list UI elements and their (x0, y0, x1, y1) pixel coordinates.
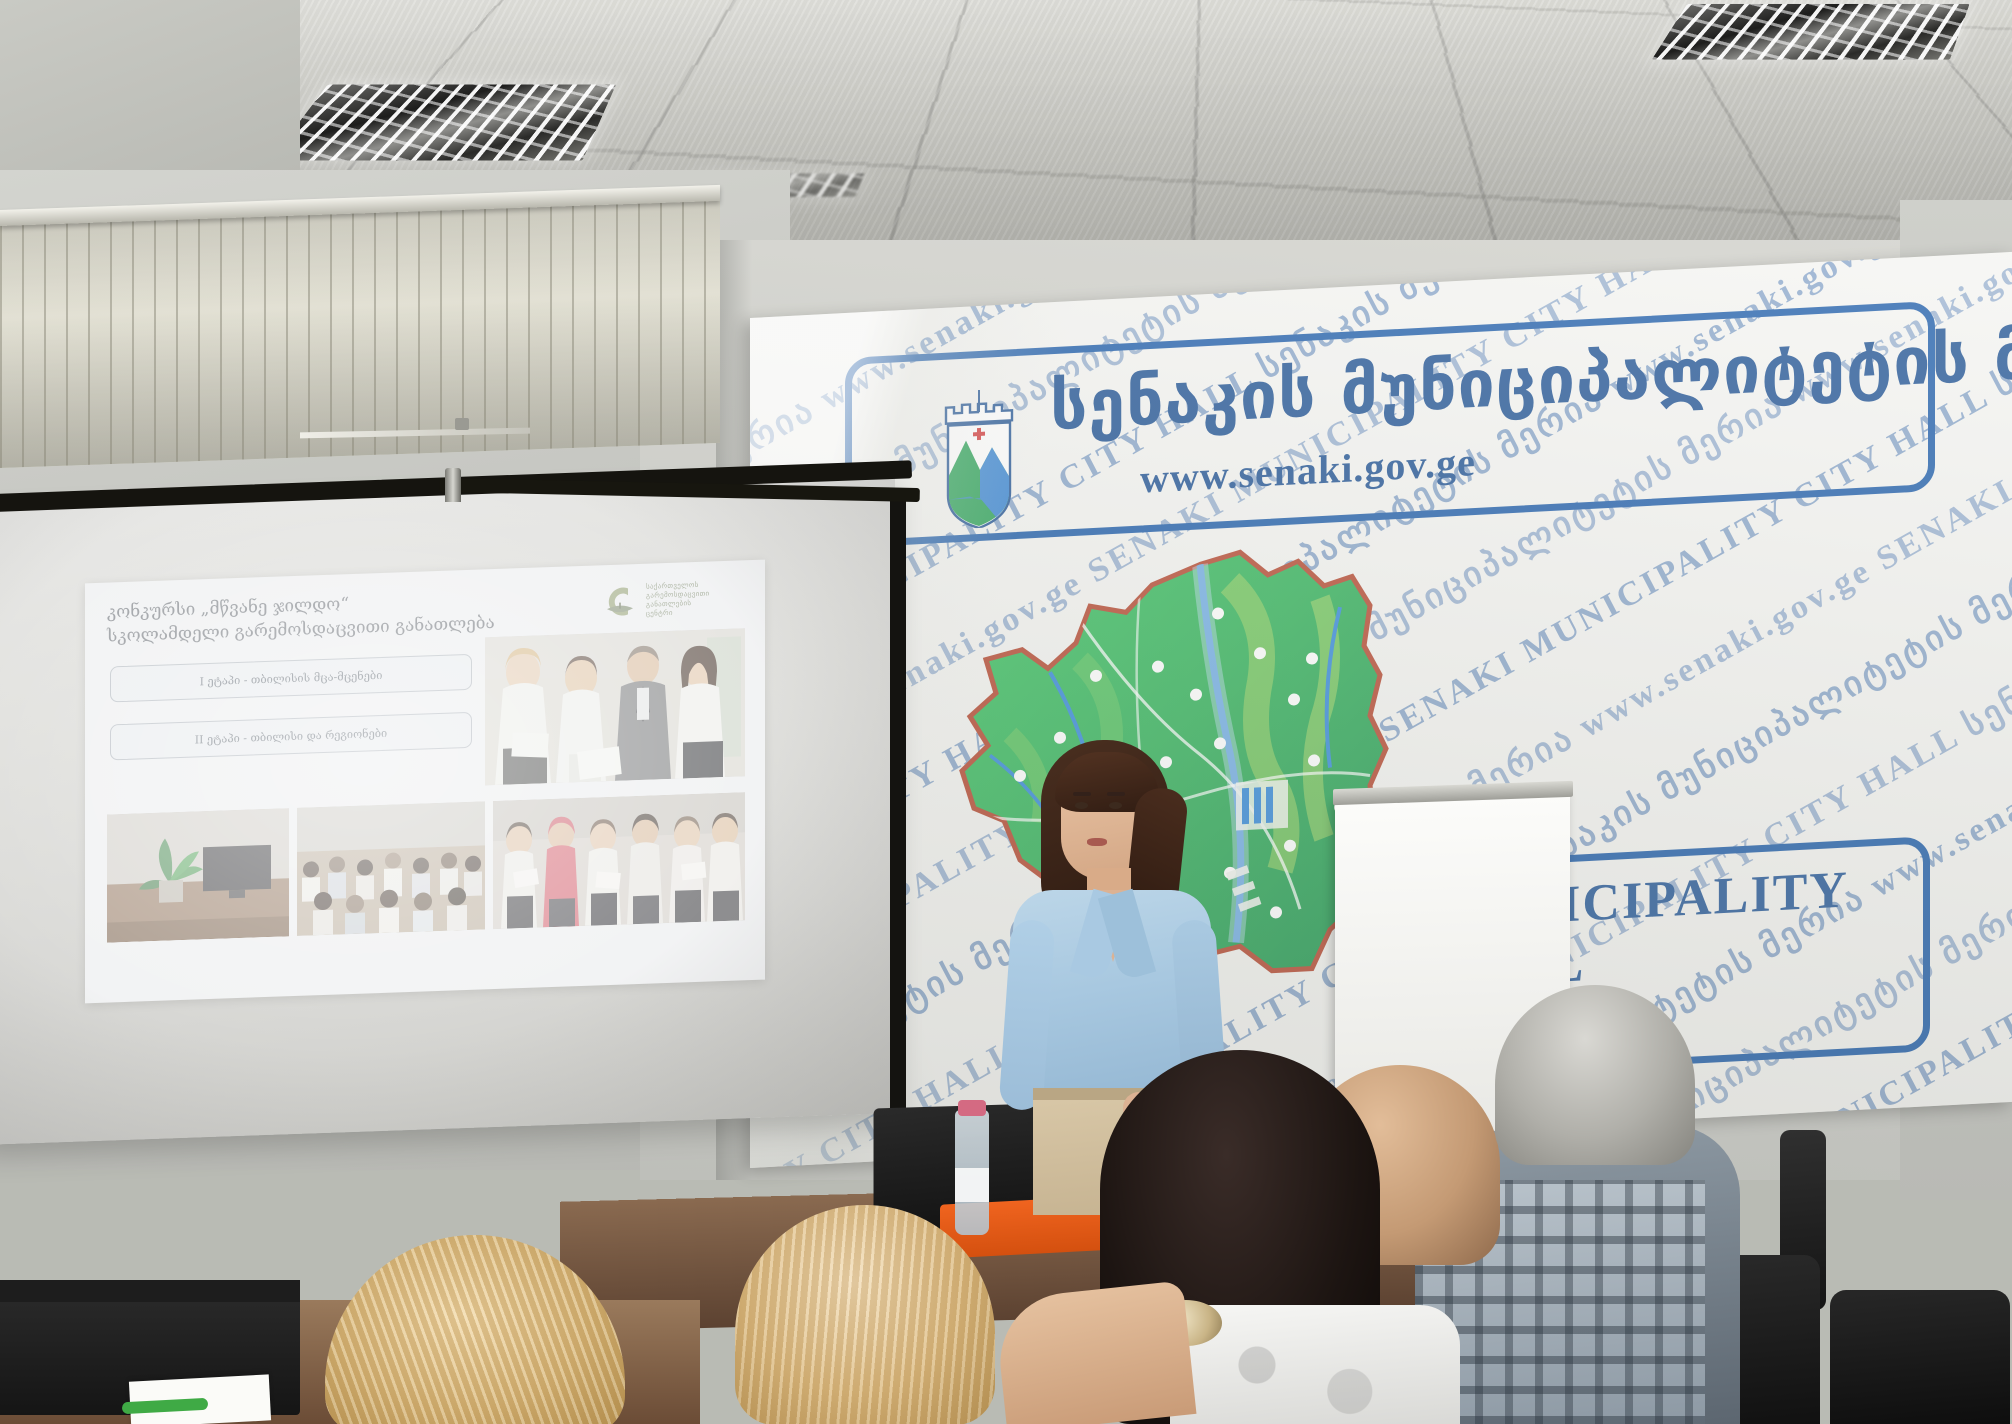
slide-organization-logo: საქართველოს გარემოსდაცვითი განათლების ცე… (601, 574, 751, 625)
leaf-book-logo-icon (601, 582, 639, 621)
projection-screen: კონკურსი „მწვანე ჯილდო“ სკოლამდელი გარემ… (0, 473, 895, 1145)
slide-photo-group-certificates (493, 792, 745, 929)
ceiling-light-panel-a (270, 85, 616, 161)
monitor-bezel (0, 1280, 300, 1302)
window-blinds (0, 193, 720, 468)
office-chair-b[interactable] (1830, 1290, 2010, 1424)
slide-stage-box-1: I ეტაპი - თბილისის მცა-მცენები (110, 654, 472, 703)
presenter-eye-left (1075, 802, 1088, 809)
presenter-eyebrow-right (1107, 792, 1125, 796)
wall-rod-bracket (455, 418, 469, 430)
slide-logo-text: საქართველოს გარემოსდაცვითი განათლების ცე… (646, 579, 751, 619)
slide-photo-conference-audience (297, 801, 485, 936)
slide-photo-office-plant (107, 808, 289, 942)
presenter-mouth (1087, 838, 1107, 846)
projection-screen-finial (445, 468, 461, 502)
presenter-eye-right (1109, 802, 1122, 809)
projection-screen-edge (890, 500, 906, 1140)
ceiling-light-panel-b (1652, 4, 1970, 60)
slide-photo-award-ceremony (485, 628, 745, 785)
presenter-eyebrow-left (1073, 792, 1091, 796)
water-bottle-label (955, 1168, 989, 1202)
senaki-coat-of-arms-icon (940, 376, 1026, 531)
blinds-shading (0, 193, 720, 468)
presentation-slide: კონკურსი „მწვანე ჯილდო“ სკოლამდელი გარემ… (85, 560, 765, 1004)
photo-scene: სენაკის მუნიციპალიტეტის მერია www.senaki… (0, 0, 2012, 1424)
slide-stage-box-2: II ეტაპი - თბილისი და რეგიონები (110, 712, 472, 761)
water-bottle-cap[interactable] (958, 1100, 986, 1116)
